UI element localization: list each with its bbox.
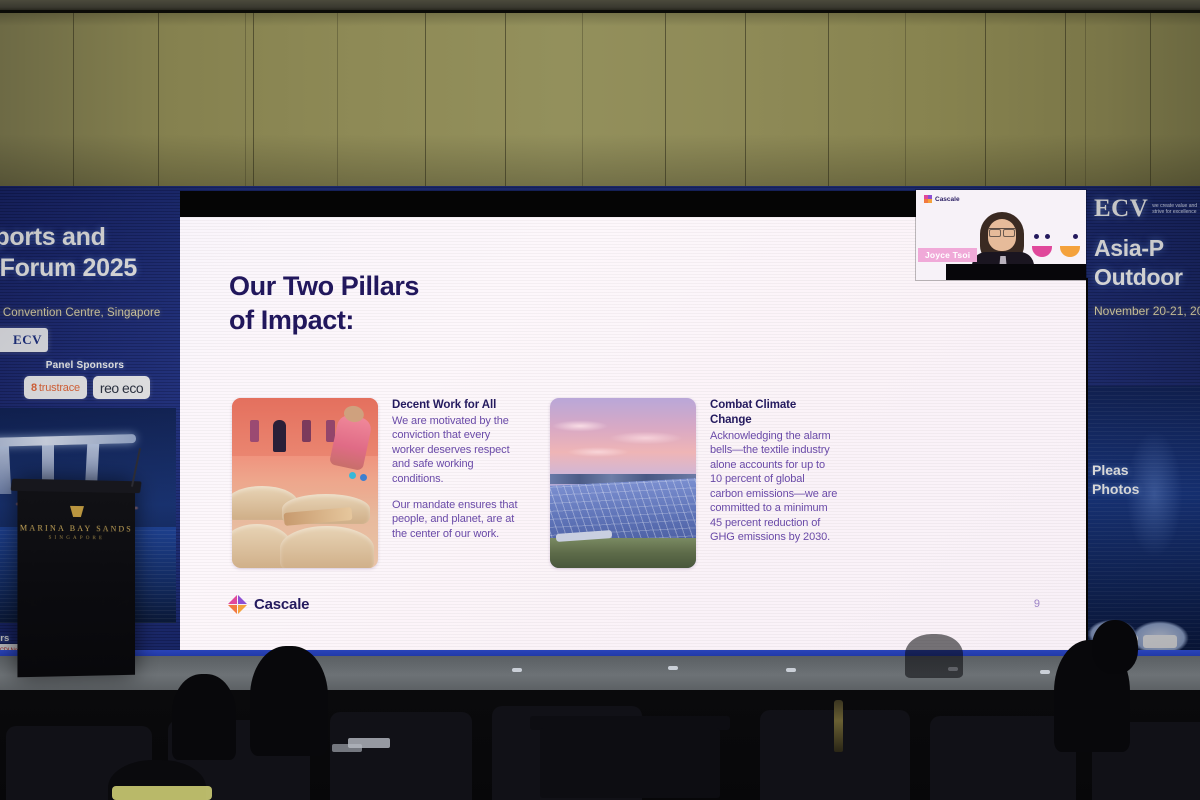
- ceiling-beam: [0, 0, 1200, 13]
- slide-title: Our Two Pillars of Impact:: [229, 269, 659, 337]
- pillar-text-climate: Combat Climate Change Acknowledging the …: [710, 398, 838, 545]
- pip-cascale-logo: Cascale: [924, 195, 960, 203]
- venue-back-wall: [0, 0, 1200, 186]
- pillar-column-decent-work: Decent Work for All We are motivated by …: [232, 398, 520, 568]
- pillar-heading-decent-work: Decent Work for All: [392, 398, 520, 413]
- partners-label: tners: [0, 633, 9, 644]
- pillar-column-climate: Combat Climate Change Acknowledging the …: [550, 398, 838, 568]
- ecv-brand-logo: ECV we create value and strive for excel…: [1094, 196, 1200, 221]
- left-banner-title: Sports and n Forum 2025: [0, 222, 176, 283]
- left-banner-subtitle: o & Convention Centre, Singapore: [0, 306, 176, 320]
- cascale-wordmark: Cascale: [254, 596, 309, 613]
- right-partner-logo-2: [1143, 635, 1177, 648]
- presenter-name-tag: Joyce Tsoi: [918, 248, 977, 262]
- sponsor-logo-reo-eco: reo eco: [93, 376, 150, 399]
- podium-line-1: MARINA BAY SANDS: [17, 523, 135, 533]
- speaker-podium: MARINA BAY SANDS SINGAPORE: [17, 479, 135, 678]
- right-banner-notice: Pleas Photos: [1092, 461, 1200, 499]
- podium-line-2: SINGAPORE: [17, 535, 135, 541]
- presentation-slide: Our Two Pillars of Impact:: [180, 217, 1086, 650]
- right-banner-date: November 20-21, 20: [1094, 304, 1200, 318]
- cascale-logo: Cascale: [228, 595, 309, 614]
- presenter-video-overlay: Cascale Joyce Tsoi: [916, 190, 1086, 280]
- panel-sponsors-label: Panel Sponsors: [0, 360, 176, 371]
- ecv-logo-badge: ECV: [0, 328, 48, 352]
- pillar-text-decent-work: Decent Work for All We are motivated by …: [392, 398, 520, 541]
- ecv-tagline: we create value and strive for excellenc…: [1152, 196, 1200, 216]
- pillar-paragraph-1: We are motivated by the conviction that …: [392, 414, 520, 487]
- glasses-icon: [989, 228, 1015, 234]
- pillar-paragraph-3: Acknowledging the alarm bells—the textil…: [710, 429, 838, 545]
- right-banner-photo: [1086, 386, 1200, 656]
- slide-page-number: 9: [1034, 598, 1040, 610]
- cascale-mark-icon: [228, 595, 247, 614]
- pillar-paragraph-2: Our mandate ensures that people, and pla…: [392, 498, 520, 542]
- right-banner-title: Asia-P Outdoor: [1094, 234, 1200, 293]
- panel-sponsor-logos: 8trustrace reo eco: [24, 376, 150, 399]
- pillar-heading-climate: Combat Climate Change: [710, 398, 838, 428]
- marina-bay-sands-emblem-icon: [70, 506, 84, 517]
- pip-brand-label: Cascale: [935, 196, 960, 203]
- pip-cascale-mark-icon: [924, 195, 932, 203]
- tannery-workers-photo: [232, 398, 378, 568]
- right-event-banner: ECV we create value and strive for excel…: [1086, 186, 1200, 656]
- sponsor-logo-trustrace: 8trustrace: [24, 376, 87, 399]
- conference-room-scene: Sports and n Forum 2025 o & Convention C…: [0, 0, 1200, 800]
- solar-farm-photo: [550, 398, 696, 568]
